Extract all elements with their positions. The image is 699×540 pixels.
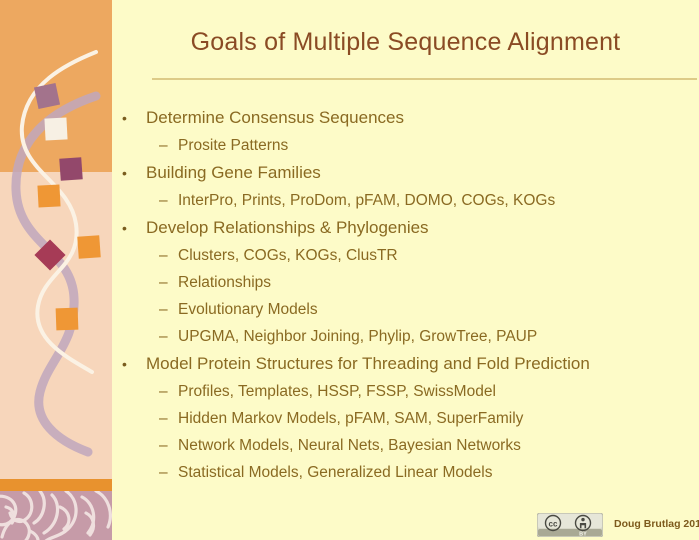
bullet-text: Model Protein Structures for Threading a… <box>146 350 590 378</box>
bullet-marker: • <box>122 104 127 132</box>
bullet-text: Evolutionary Models <box>178 296 318 323</box>
slide-canvas: Goals of Multiple Sequence Alignment • D… <box>0 0 699 540</box>
square-mauve-1 <box>34 83 60 109</box>
bullet-text: Profiles, Templates, HSSP, FSSP, SwissMo… <box>178 378 496 405</box>
bullet-text: Network Models, Neural Nets, Bayesian Ne… <box>178 432 521 459</box>
bullet-item: – Network Models, Neural Nets, Bayesian … <box>112 432 699 459</box>
bullet-item: – Profiles, Templates, HSSP, FSSP, Swiss… <box>112 378 699 405</box>
bullet-text: Clusters, COGs, KOGs, ClusTR <box>178 242 398 269</box>
square-orange-1 <box>37 184 60 207</box>
bullet-item: – InterPro, Prints, ProDom, pFAM, DOMO, … <box>112 187 699 214</box>
bullet-text: Building Gene Families <box>146 159 321 187</box>
bullet-item: – UPGMA, Neighbor Joining, Phylip, GrowT… <box>112 323 699 350</box>
creative-commons-badge[interactable]: cc BY <box>537 513 603 537</box>
bullet-marker: – <box>159 323 168 350</box>
bullet-text: Develop Relationships & Phylogenies <box>146 214 429 242</box>
decorative-sidebar <box>0 0 112 540</box>
bullet-text: Prosite Patterns <box>178 132 288 159</box>
bullet-item: • Develop Relationships & Phylogenies <box>112 214 699 242</box>
bullet-item: • Determine Consensus Sequences <box>112 104 699 132</box>
bullet-marker: – <box>159 132 168 159</box>
bullet-marker: – <box>159 269 168 296</box>
bullet-item: – Hidden Markov Models, pFAM, SAM, Super… <box>112 405 699 432</box>
bullet-marker: – <box>159 405 168 432</box>
square-cream <box>44 117 67 140</box>
bullet-item: – Statistical Models, Generalized Linear… <box>112 459 699 486</box>
bullet-marker: • <box>122 214 127 242</box>
bullet-text: UPGMA, Neighbor Joining, Phylip, GrowTre… <box>178 323 537 350</box>
bullet-marker: – <box>159 296 168 323</box>
sidebar-dna-artwork <box>0 0 112 491</box>
bullet-item: – Evolutionary Models <box>112 296 699 323</box>
bullet-marker: – <box>159 378 168 405</box>
bullet-text: Determine Consensus Sequences <box>146 104 404 132</box>
bullet-item: – Clusters, COGs, KOGs, ClusTR <box>112 242 699 269</box>
bullet-text: Hidden Markov Models, pFAM, SAM, SuperFa… <box>178 405 523 432</box>
page-title: Goals of Multiple Sequence Alignment <box>112 28 699 57</box>
title-block: Goals of Multiple Sequence Alignment <box>112 28 699 57</box>
bullet-item: – Relationships <box>112 269 699 296</box>
bullet-marker: – <box>159 187 168 214</box>
bullet-marker: • <box>122 159 127 187</box>
bullet-text: Statistical Models, Generalized Linear M… <box>178 459 492 486</box>
square-plum <box>59 157 82 180</box>
bullet-item: • Building Gene Families <box>112 159 699 187</box>
bullet-text: Relationships <box>178 269 271 296</box>
square-orange-3 <box>56 308 79 331</box>
content-bullet-list: • Determine Consensus Sequences – Prosit… <box>112 104 699 486</box>
bullet-item: • Model Protein Structures for Threading… <box>112 350 699 378</box>
bullet-marker: – <box>159 459 168 486</box>
sidebar-fingerprint-pattern <box>0 491 112 540</box>
bullet-marker: • <box>122 350 127 378</box>
bullet-item: – Prosite Patterns <box>112 132 699 159</box>
svg-text:cc: cc <box>549 520 558 529</box>
sidebar-band-orange <box>0 479 112 491</box>
square-orange-2 <box>77 235 100 258</box>
bullet-marker: – <box>159 242 168 269</box>
bullet-text: InterPro, Prints, ProDom, pFAM, DOMO, CO… <box>178 187 555 214</box>
license-by-label: BY <box>579 531 587 537</box>
author-credit: Doug Brutlag 2010 <box>614 518 699 530</box>
bullet-marker: – <box>159 432 168 459</box>
title-underline-rule <box>152 78 697 80</box>
